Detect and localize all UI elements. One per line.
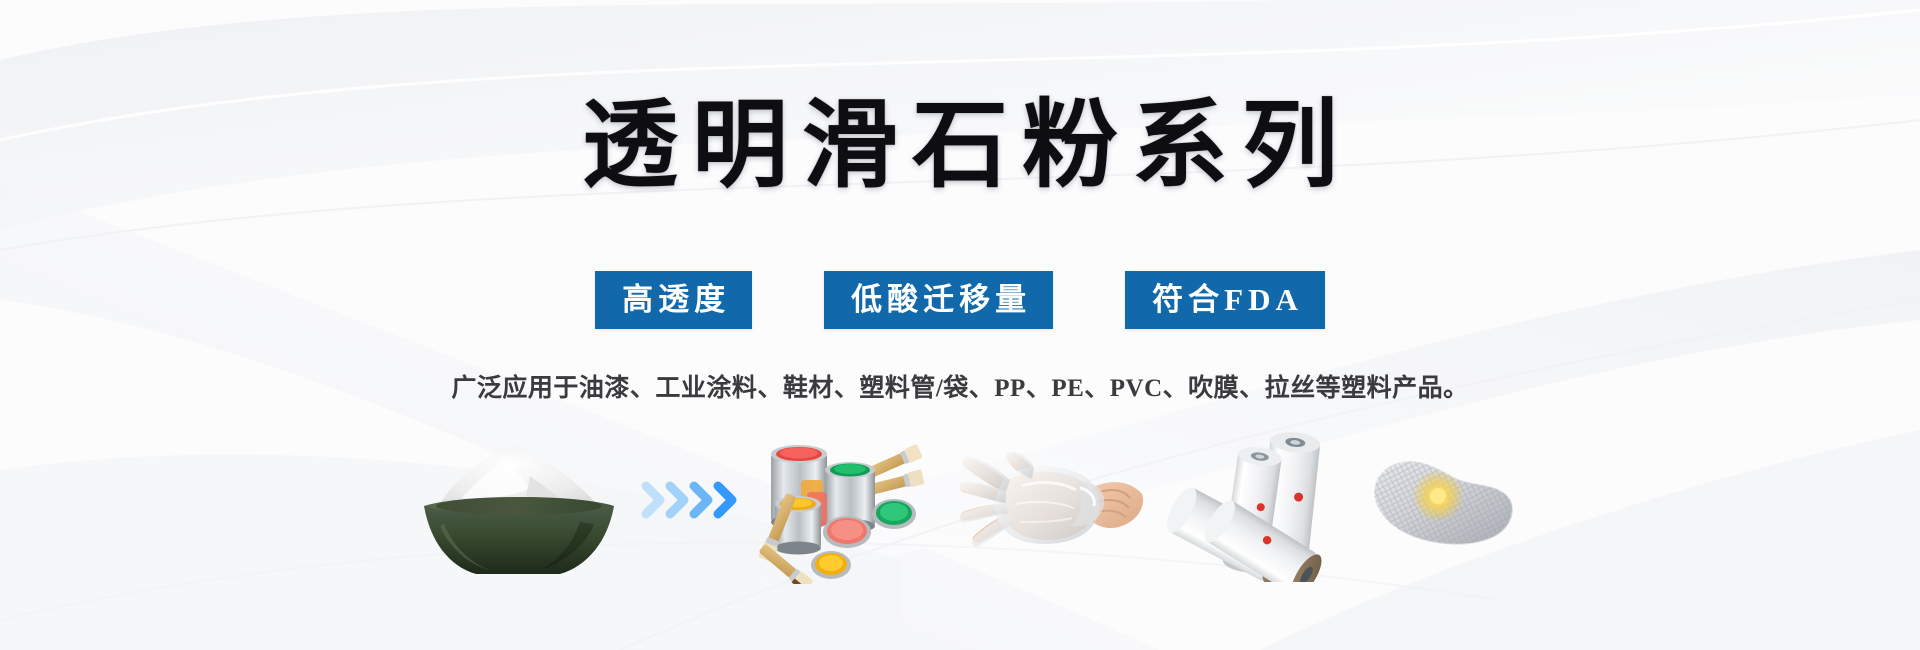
application-description: 广泛应用于油漆、工业涂料、鞋材、塑料管/袋、PP、PE、PVC、吹膜、拉丝等塑料… (451, 374, 1468, 404)
feature-badge-low-acid-migration[interactable]: 低酸迁移量 (824, 271, 1053, 329)
feature-badge-list: 高透度 低酸迁移量 符合FDA (0, 271, 1920, 329)
feature-badge-fda-compliant[interactable]: 符合FDA (1125, 271, 1325, 329)
process-arrows-icon (640, 476, 746, 524)
feature-badge-high-transparency[interactable]: 高透度 (595, 271, 752, 329)
page-title: 透明滑石粉系列 (568, 96, 1352, 197)
title-container: 透明滑石粉系列 (0, 96, 1920, 197)
plastic-film-rolls-image (1160, 432, 1340, 582)
plastic-glove-hand-image (960, 452, 1145, 567)
product-application-strip (400, 428, 1520, 588)
paint-cans-image (755, 434, 925, 584)
shoe-sole-image (1360, 446, 1520, 566)
talc-powder-bowl-image (410, 436, 625, 581)
product-banner: 透明滑石粉系列 高透度 低酸迁移量 符合FDA 广泛应用于油漆、工业涂料、鞋材、… (0, 0, 1920, 650)
description-container: 广泛应用于油漆、工业涂料、鞋材、塑料管/袋、PP、PE、PVC、吹膜、拉丝等塑料… (0, 374, 1920, 404)
